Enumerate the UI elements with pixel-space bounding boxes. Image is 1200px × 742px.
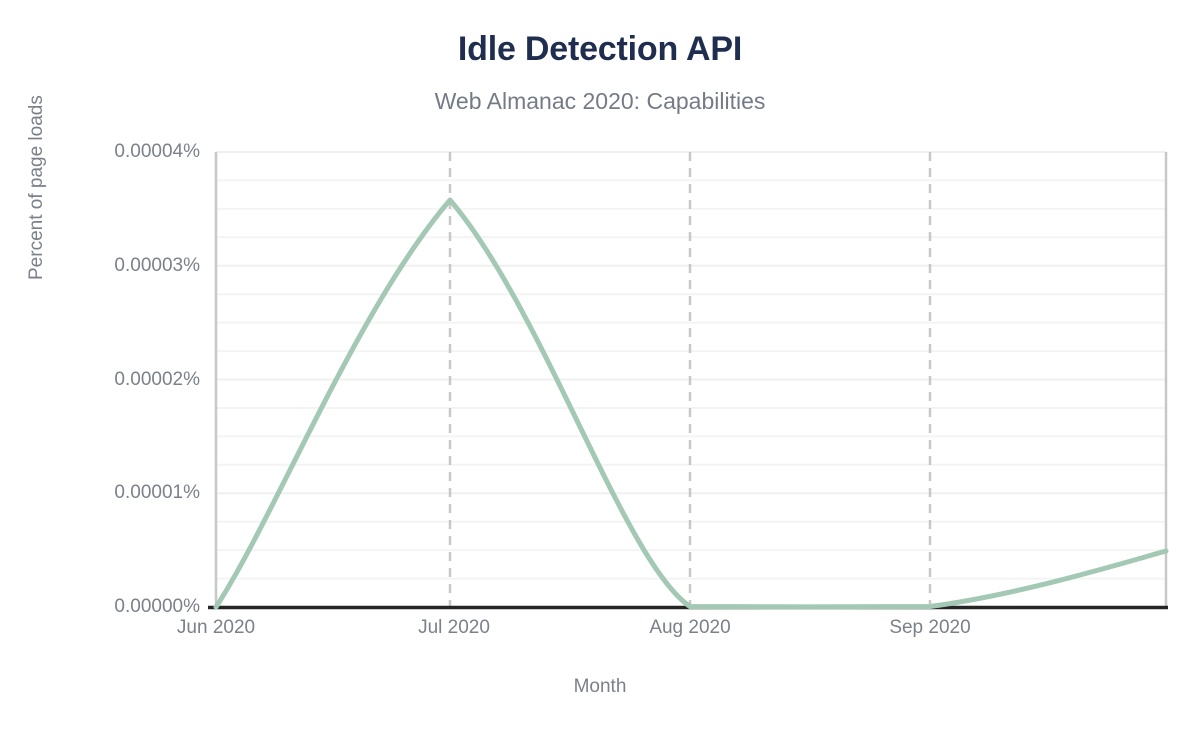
x-axis-title: Month bbox=[0, 676, 1200, 698]
x-tick-label-jun: Jun 2020 bbox=[116, 617, 316, 639]
x-tick-label-sep: Sep 2020 bbox=[830, 617, 1030, 639]
y-tick-label-2: 0.00002% bbox=[0, 369, 200, 391]
y-tick-label-0: 0.00000% bbox=[0, 596, 200, 618]
y-axis-title: Percent of page loads bbox=[26, 0, 48, 280]
y-tick-label-4: 0.00004% bbox=[0, 141, 200, 163]
y-tick-label-3: 0.00003% bbox=[0, 255, 200, 277]
x-tick-label-aug: Aug 2020 bbox=[590, 617, 790, 639]
y-tick-label-1: 0.00001% bbox=[0, 482, 200, 504]
chart-container: Idle Detection API Web Almanac 2020: Cap… bbox=[0, 0, 1200, 742]
x-tick-label-jul: Jul 2020 bbox=[354, 617, 554, 639]
data-series-line bbox=[216, 200, 1166, 607]
